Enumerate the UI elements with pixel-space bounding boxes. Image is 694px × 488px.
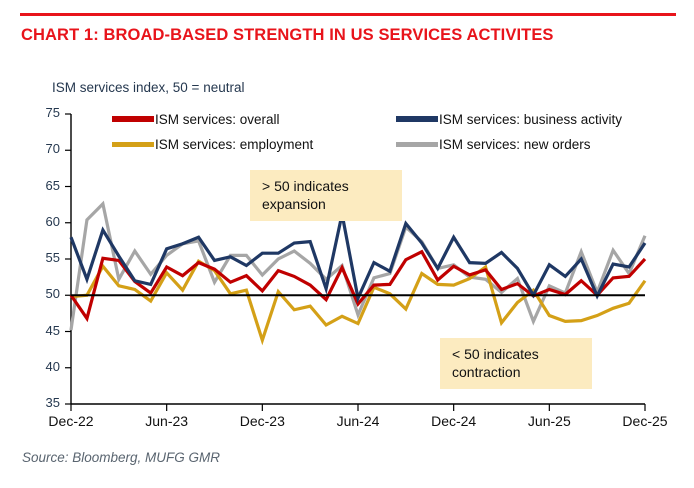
source-note: Source: Bloomberg, MUFG GMR	[22, 450, 220, 465]
legend-color-swatch	[112, 142, 154, 147]
legend-label: ISM services: new orders	[439, 137, 591, 153]
legend-item: ISM services: new orders	[396, 137, 591, 153]
y-axis-tick-label: 70	[26, 141, 60, 156]
legend-label: ISM services: overall	[155, 112, 280, 128]
x-axis-tick-label: Jun-25	[511, 413, 587, 429]
annotation-expansion: > 50 indicates expansion	[250, 170, 402, 221]
x-axis-tick-label: Jun-23	[129, 413, 205, 429]
y-axis-tick-label: 40	[26, 359, 60, 374]
y-axis-tick-label: 50	[26, 286, 60, 301]
y-axis-tick-label: 55	[26, 250, 60, 265]
x-axis-tick-label: Dec-22	[33, 413, 109, 429]
x-axis-tick-label: Jun-24	[320, 413, 396, 429]
x-axis-tick-label: Dec-25	[607, 413, 683, 429]
legend-item: ISM services: overall	[112, 112, 280, 128]
y-axis-tick-label: 45	[26, 323, 60, 338]
legend-color-swatch	[112, 116, 154, 122]
x-axis-tick-label: Dec-23	[224, 413, 300, 429]
legend-label: ISM services: employment	[155, 137, 313, 153]
chart-plot-area: 354045505560657075Dec-22Jun-23Dec-23Jun-…	[0, 0, 694, 488]
y-axis-tick-label: 35	[26, 395, 60, 410]
legend-label: ISM services: business activity	[439, 112, 622, 128]
y-axis-tick-label: 60	[26, 214, 60, 229]
annotation-contraction: < 50 indicates contraction	[440, 338, 592, 389]
legend-item: ISM services: employment	[112, 137, 313, 153]
legend-item: ISM services: business activity	[396, 112, 622, 128]
x-axis-tick-label: Dec-24	[416, 413, 492, 429]
legend-color-swatch	[396, 116, 438, 122]
y-axis-tick-label: 75	[26, 105, 60, 120]
legend-color-swatch	[396, 142, 438, 147]
y-axis-tick-label: 65	[26, 178, 60, 193]
